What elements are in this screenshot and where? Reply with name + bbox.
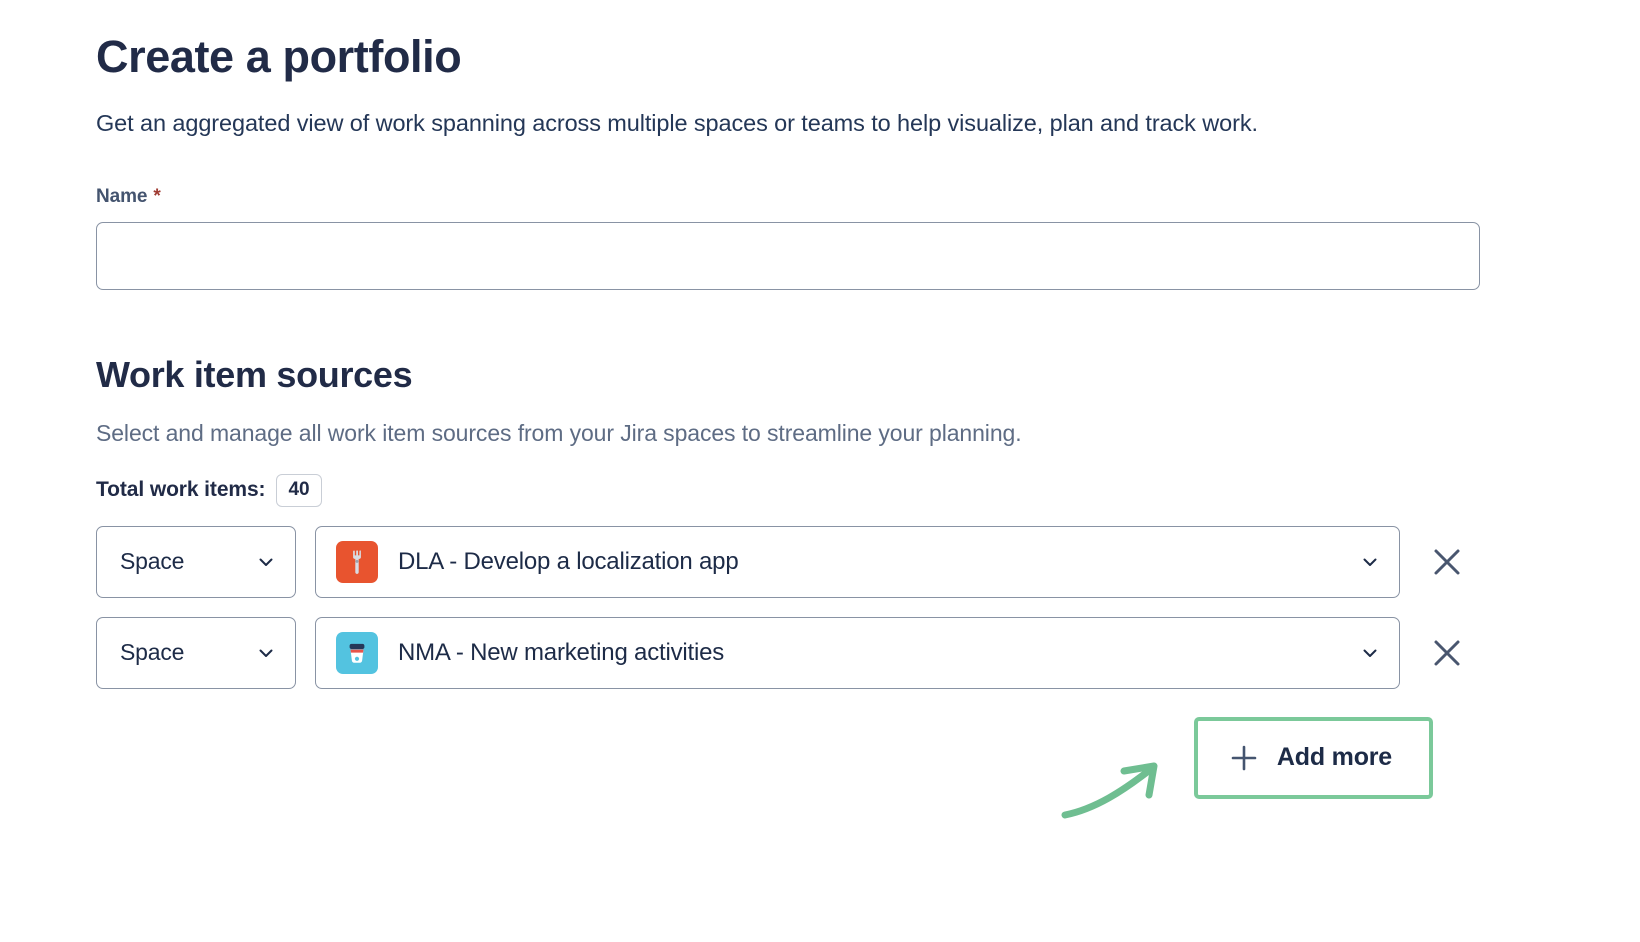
name-input[interactable] — [96, 222, 1480, 290]
wrench-icon — [336, 541, 378, 583]
name-field-label: Name* — [96, 186, 161, 208]
scope-select-label-0: Space — [120, 548, 184, 575]
add-more-highlight: Add more — [1194, 717, 1433, 799]
remove-source-button-0[interactable] — [1419, 534, 1475, 590]
close-icon — [1430, 545, 1464, 579]
add-more-label: Add more — [1277, 743, 1392, 772]
plus-icon — [1229, 743, 1259, 773]
chevron-down-icon — [1360, 643, 1380, 663]
work-item-sources-subtitle: Select and manage all work item sources … — [96, 396, 1566, 447]
work-item-source-row: Space NMA - New marketing activit — [96, 617, 1566, 689]
project-name-1: NMA - New marketing activities — [398, 639, 1360, 667]
arrow-pointer-icon — [1061, 753, 1171, 823]
total-work-items-badge: 40 — [276, 474, 321, 507]
create-portfolio-page: Create a portfolio Get an aggregated vie… — [0, 0, 1640, 942]
chevron-down-icon — [1360, 552, 1380, 572]
close-icon — [1430, 636, 1464, 670]
scope-select-0[interactable]: Space — [96, 526, 296, 598]
total-work-items-row: Total work items: 40 — [96, 447, 1566, 507]
scope-select-1[interactable]: Space — [96, 617, 296, 689]
page-content: Create a portfolio Get an aggregated vie… — [96, 0, 1566, 851]
page-title: Create a portfolio — [96, 0, 1566, 82]
project-select-0[interactable]: DLA - Develop a localization app — [315, 526, 1400, 598]
total-work-items-label: Total work items: — [96, 478, 265, 502]
scope-select-label-1: Space — [120, 639, 184, 666]
name-field-block: Name* — [96, 139, 1566, 290]
work-item-sources-title: Work item sources — [96, 290, 1566, 396]
project-select-1[interactable]: NMA - New marketing activities — [315, 617, 1400, 689]
work-item-source-row: Space DLA - Develop a localization app — [96, 526, 1566, 598]
coffee-cup-icon — [336, 632, 378, 674]
name-label-text: Name — [96, 186, 147, 207]
project-name-0: DLA - Develop a localization app — [398, 548, 1360, 576]
remove-source-button-1[interactable] — [1419, 625, 1475, 681]
chevron-down-icon — [256, 643, 276, 663]
required-asterisk: * — [153, 186, 160, 207]
page-subtitle: Get an aggregated view of work spanning … — [96, 82, 1566, 139]
chevron-down-icon — [256, 552, 276, 572]
add-more-area: Add more — [96, 711, 1566, 851]
add-more-button[interactable]: Add more — [1201, 724, 1426, 792]
